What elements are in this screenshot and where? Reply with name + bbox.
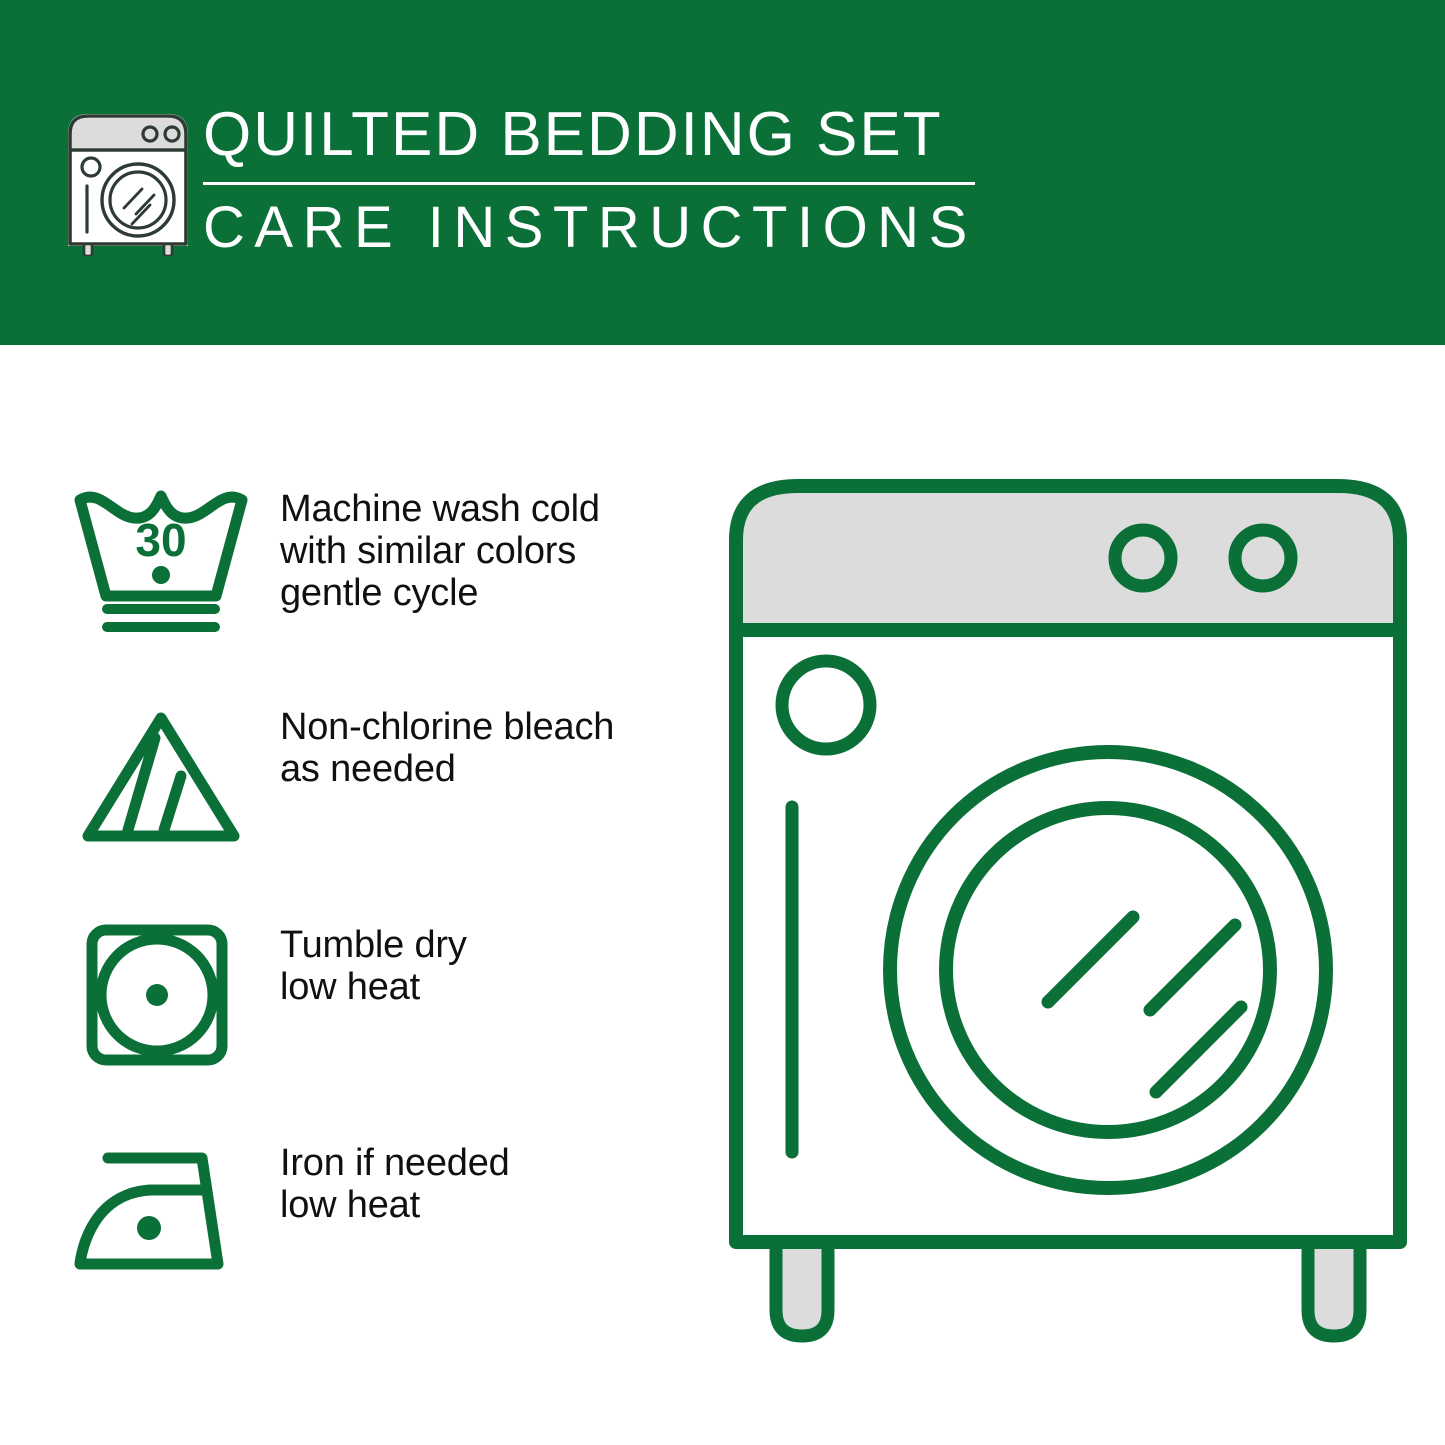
page-title: QUILTED BEDDING SET bbox=[203, 100, 993, 170]
care-text-line: as needed bbox=[280, 748, 614, 790]
front-load-washing-machine-illustration bbox=[718, 462, 1418, 1362]
tumble-dry-dot-icon bbox=[146, 984, 168, 1006]
care-text-line: Tumble dry bbox=[280, 924, 467, 966]
iron-low-heat-icon bbox=[60, 1124, 260, 1299]
iron-dot-icon bbox=[137, 1216, 161, 1240]
non-chlorine-bleach-triangle-icon bbox=[60, 688, 260, 863]
gentle-bar-1 bbox=[102, 604, 220, 614]
header-banner: QUILTED BEDDING SET CARE INSTRUCTIONS bbox=[0, 0, 1445, 345]
list-item: 30 Machine wash cold with similar colors… bbox=[60, 470, 700, 688]
care-text-line: Non-chlorine bleach bbox=[280, 706, 614, 748]
tumble-dry-low-icon bbox=[60, 906, 260, 1081]
care-text-line: with similar colors bbox=[280, 530, 600, 572]
machine-leg-right bbox=[1308, 1242, 1360, 1336]
care-instruction-list: 30 Machine wash cold with similar colors… bbox=[60, 470, 700, 1342]
care-text-line: Iron if needed bbox=[280, 1142, 510, 1184]
care-instruction-text: Machine wash cold with similar colors ge… bbox=[260, 470, 600, 614]
washing-machine-icon bbox=[62, 104, 194, 256]
machine-body bbox=[736, 630, 1400, 1242]
care-text-line: gentle cycle bbox=[280, 572, 600, 614]
header-text: QUILTED BEDDING SET CARE INSTRUCTIONS bbox=[203, 100, 993, 261]
wash-dot-icon bbox=[152, 566, 170, 584]
title-divider bbox=[203, 182, 975, 185]
machine-leg-left bbox=[776, 1242, 828, 1336]
care-instructions-infographic: QUILTED BEDDING SET CARE INSTRUCTIONS 30… bbox=[0, 0, 1445, 1445]
list-item: Iron if needed low heat bbox=[60, 1124, 700, 1342]
list-item: Tumble dry low heat bbox=[60, 906, 700, 1124]
control-panel bbox=[736, 486, 1400, 630]
care-instruction-text: Non-chlorine bleach as needed bbox=[260, 688, 614, 790]
list-item: Non-chlorine bleach as needed bbox=[60, 688, 700, 906]
care-text-line: low heat bbox=[280, 1184, 510, 1226]
wash-tub-30-gentle-icon: 30 bbox=[60, 470, 260, 645]
care-text-line: low heat bbox=[280, 966, 467, 1008]
care-instruction-text: Tumble dry low heat bbox=[260, 906, 467, 1008]
care-text-line: Machine wash cold bbox=[280, 488, 600, 530]
page-subtitle: CARE INSTRUCTIONS bbox=[203, 195, 993, 261]
gentle-bar-2 bbox=[102, 622, 220, 632]
care-instruction-text: Iron if needed low heat bbox=[260, 1124, 510, 1226]
wash-temperature-label: 30 bbox=[135, 514, 186, 566]
